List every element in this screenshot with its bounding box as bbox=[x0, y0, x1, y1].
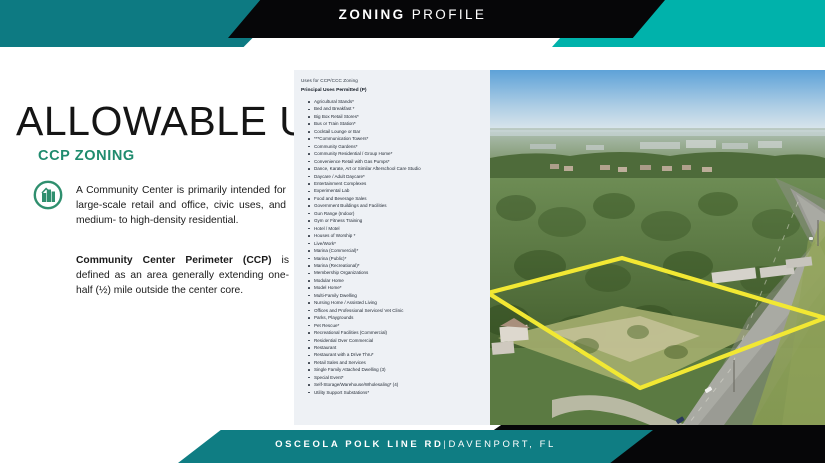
zoning-uses-document[interactable]: Uses for CCP/CCC Zoning Principal Uses P… bbox=[294, 70, 493, 425]
permitted-use-item: Live/Work* bbox=[314, 240, 486, 247]
permitted-use-item: Single Family Attached Dwelling (3) bbox=[314, 366, 486, 373]
permitted-use-item: Nursing Home / Assisted Living bbox=[314, 299, 486, 306]
permitted-use-item: Big Box Retail Stores* bbox=[314, 113, 486, 120]
permitted-use-item: Pet Rescue* bbox=[314, 322, 486, 329]
document-subheading: Principal Uses Permitted (P) bbox=[301, 88, 486, 93]
permitted-use-item: Marina (Commercial)* bbox=[314, 247, 486, 254]
permitted-use-item: Marina (Public)* bbox=[314, 255, 486, 262]
footer-bar: OSCEOLA POLK LINE RD|DAVENPORT, FL SUNDE… bbox=[0, 425, 825, 463]
permitted-use-item: Bus or Train Station* bbox=[314, 120, 486, 127]
permitted-use-item: Hotel / Motel bbox=[314, 225, 486, 232]
permitted-use-item: Daycare / Adult Daycare* bbox=[314, 173, 486, 180]
permitted-use-item: Food and Beverage Sales bbox=[314, 195, 486, 202]
permitted-use-item: Self-Storage/Warehouse/Wholesaling* (4) bbox=[314, 381, 486, 388]
permitted-use-item: Offices and Professional Services/ Vet C… bbox=[314, 307, 486, 314]
permitted-use-item: Gun Range (Indoor) bbox=[314, 210, 486, 217]
document-heading: Uses for CCP/CCC Zoning bbox=[301, 78, 486, 83]
permitted-use-item: Model Home* bbox=[314, 284, 486, 291]
zoning-profile-slide: ZONING PROFILE ALLOWABLE USES CCP ZONING… bbox=[0, 0, 825, 463]
permitted-use-item: Entertainment Complexes bbox=[314, 180, 486, 187]
permitted-use-item: Parks, Playgrounds bbox=[314, 314, 486, 321]
permitted-use-item: Recreational Facilities (Commercial) bbox=[314, 329, 486, 336]
header-bar: ZONING PROFILE bbox=[0, 0, 825, 60]
permitted-use-item: Residential Over Commercial bbox=[314, 337, 486, 344]
permitted-use-item: Community Residential / Group Home* bbox=[314, 150, 486, 157]
footer-address: OSCEOLA POLK LINE RD|DAVENPORT, FL bbox=[178, 439, 653, 450]
permitted-use-item: Bed and Breakfast * bbox=[314, 105, 486, 112]
permitted-use-item: Agricultural Stands* bbox=[314, 98, 486, 105]
permitted-use-item: Government Buildings and Facilities bbox=[314, 202, 486, 209]
footer-address-separator: | bbox=[443, 439, 448, 450]
permitted-use-item: Modular Home bbox=[314, 277, 486, 284]
permitted-use-item: Restaurant with a Drive Thru* bbox=[314, 351, 486, 358]
document-content: Uses for CCP/CCC Zoning Principal Uses P… bbox=[294, 70, 493, 396]
paragraph-ccp-definition: Community Center Perimeter (CCP) is defi… bbox=[76, 253, 289, 299]
ccp-term: Community Center Perimeter (CCP) bbox=[76, 255, 272, 266]
permitted-use-item: ***Communication Towers* bbox=[314, 135, 486, 142]
header-title: ZONING PROFILE bbox=[0, 7, 825, 22]
permitted-use-item: Multi-Family Dwelling bbox=[314, 292, 486, 299]
permitted-use-item: Utility Support Substations* bbox=[314, 389, 486, 396]
permitted-use-item: Membership Organizations bbox=[314, 269, 486, 276]
permitted-use-item: Convenience Retail with Gas Pumps* bbox=[314, 158, 486, 165]
permitted-uses-list: Agricultural Stands*Bed and Breakfast *B… bbox=[314, 98, 486, 396]
permitted-use-item: Cocktail Lounge or Bar bbox=[314, 128, 486, 135]
paragraph-community-center: A Community Center is primarily intended… bbox=[76, 183, 286, 229]
permitted-use-item: Retail Sales and Services bbox=[314, 359, 486, 366]
header-title-bold: ZONING bbox=[339, 7, 406, 22]
permitted-use-item: Special Event* bbox=[314, 374, 486, 381]
aerial-site-photo bbox=[490, 70, 825, 425]
header-title-light-word: PROFILE bbox=[412, 7, 487, 22]
footer-address-city: DAVENPORT, FL bbox=[449, 439, 556, 450]
footer-address-street: OSCEOLA POLK LINE RD bbox=[275, 439, 443, 450]
permitted-use-item: Community Gardens* bbox=[314, 143, 486, 150]
permitted-use-item: Experimental Lab bbox=[314, 187, 486, 194]
permitted-use-item: Restaurant bbox=[314, 344, 486, 351]
permitted-use-item: Gym or Fitness Training bbox=[314, 217, 486, 224]
section-label: CCP ZONING bbox=[38, 148, 135, 164]
permitted-use-item: Marina (Recreational)* bbox=[314, 262, 486, 269]
building-circle-icon bbox=[33, 180, 63, 210]
permitted-use-item: Dance, Karate, Art or Similar Afterschoo… bbox=[314, 165, 486, 172]
permitted-use-item: Houses of Worship * bbox=[314, 232, 486, 239]
